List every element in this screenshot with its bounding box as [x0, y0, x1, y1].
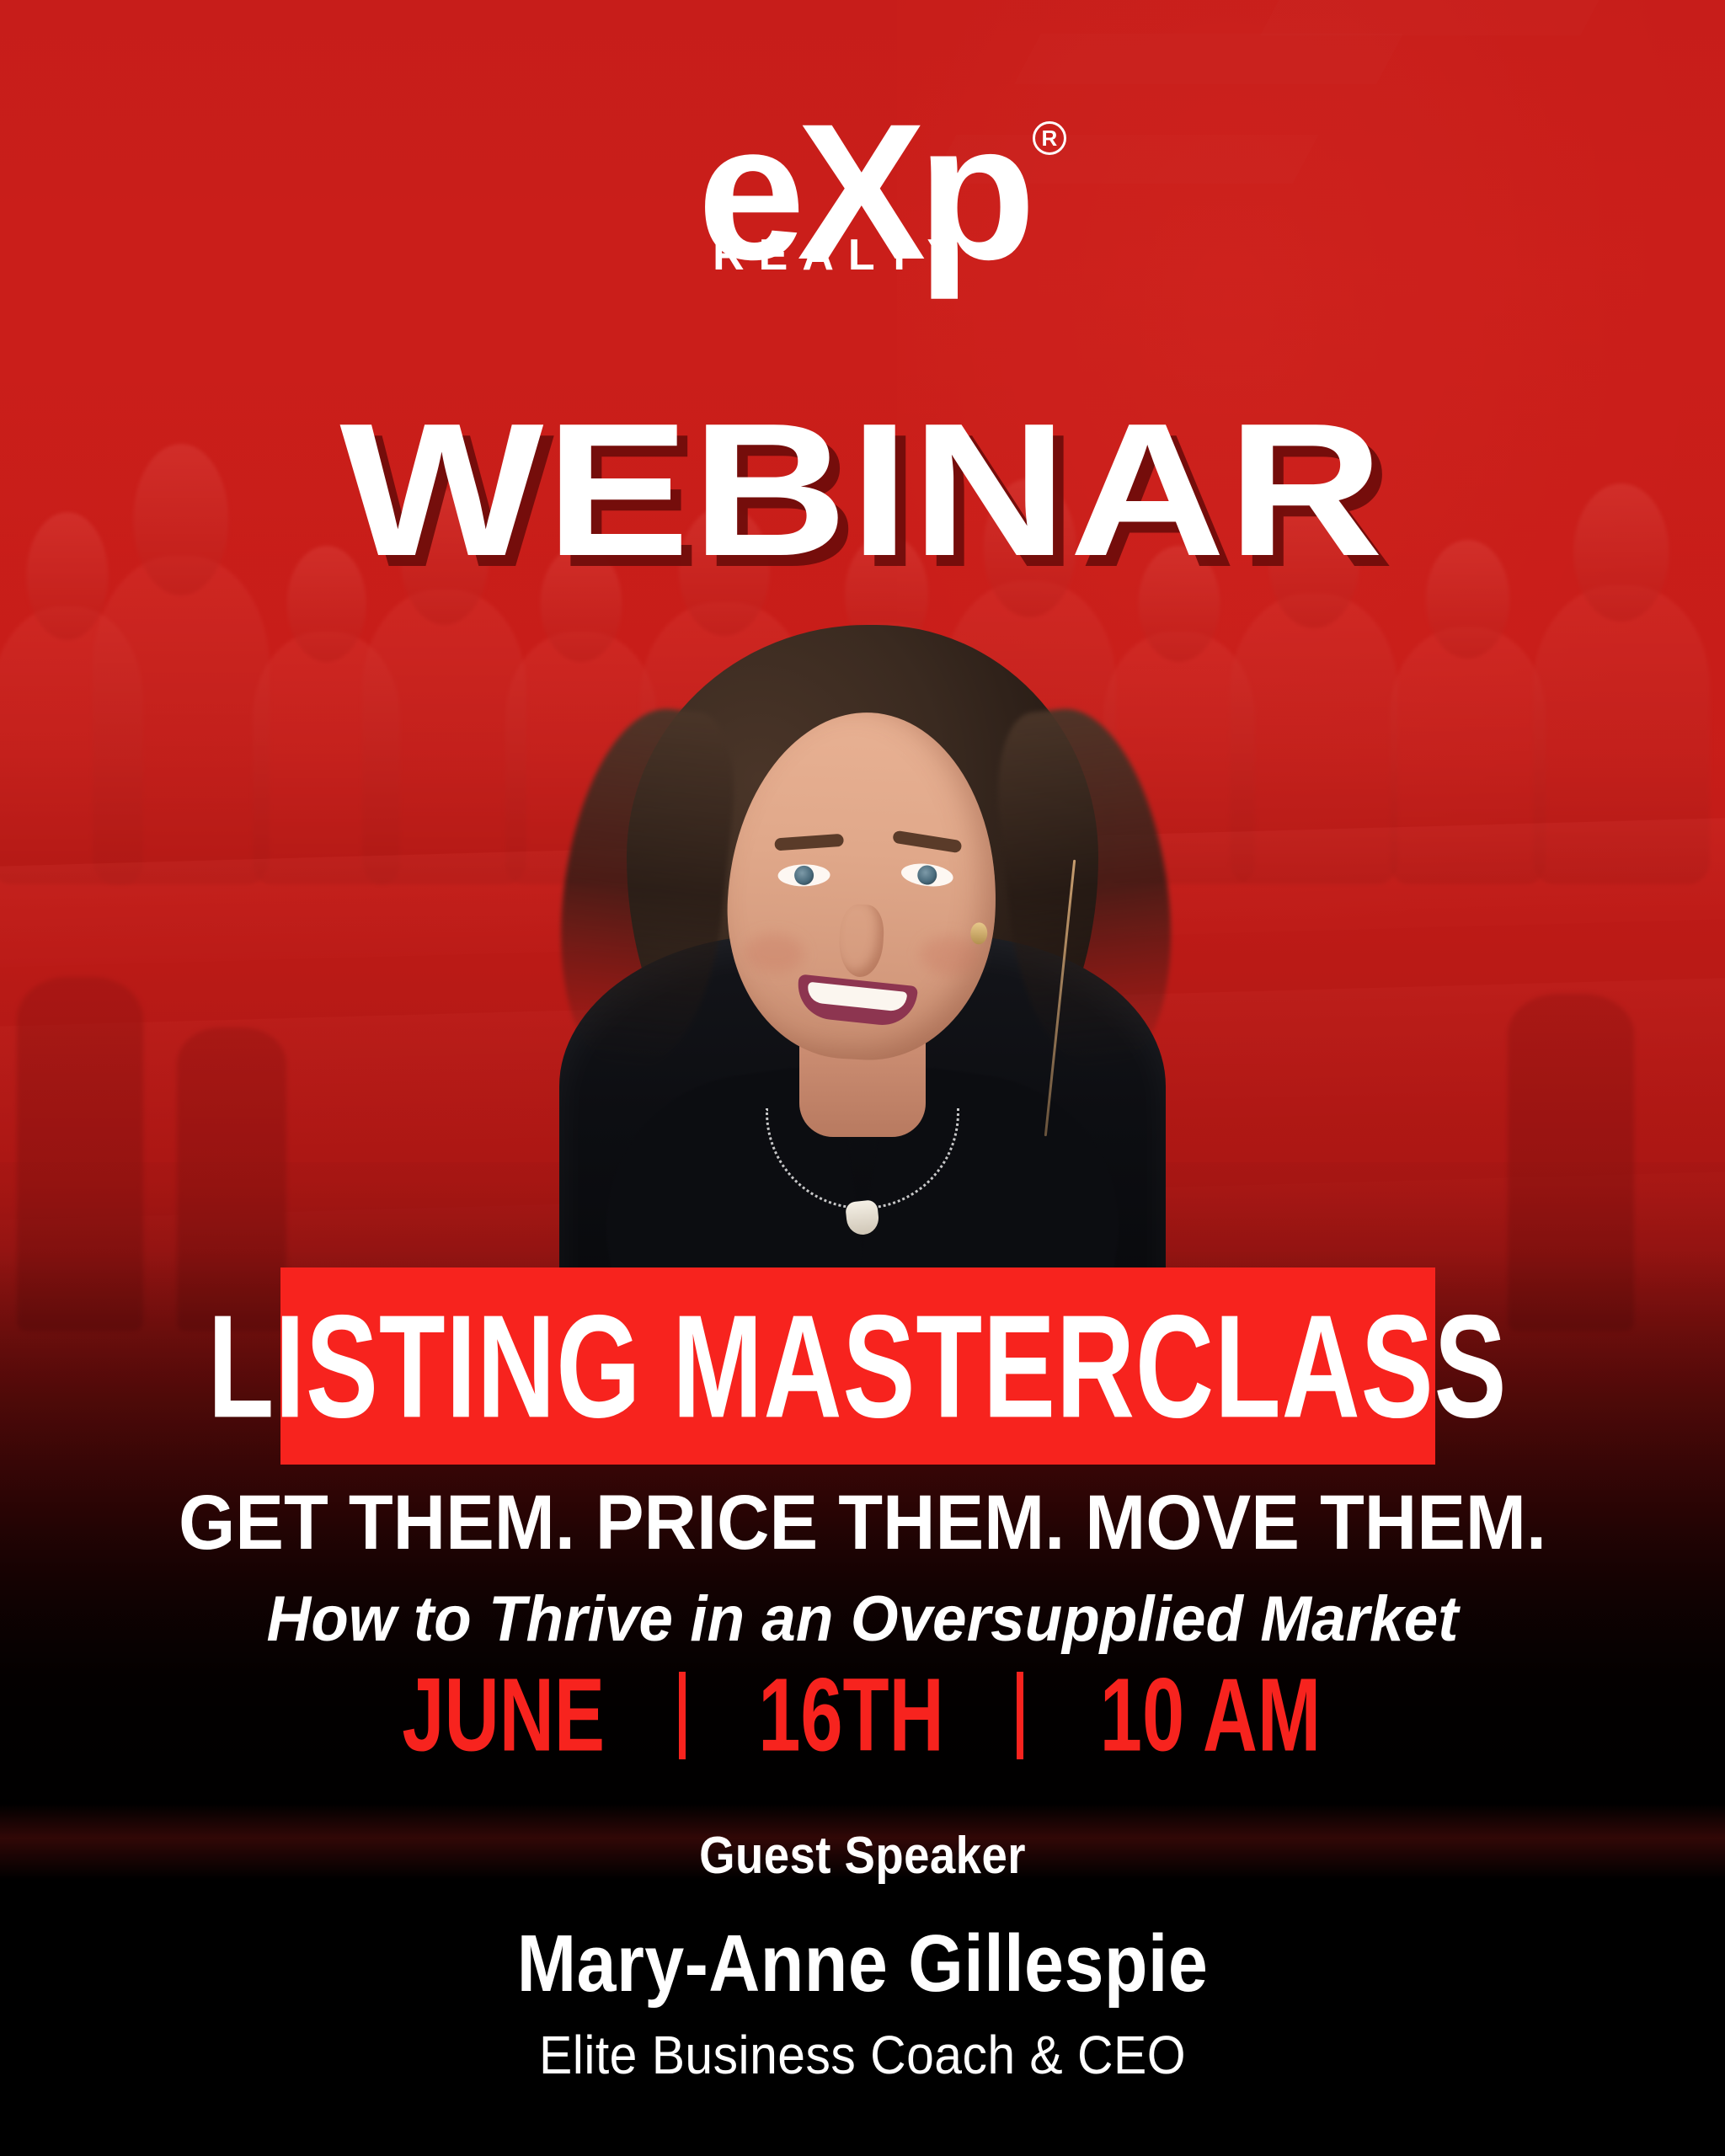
smiling-mouth	[795, 974, 918, 1029]
date-separator-2	[1017, 1672, 1023, 1759]
cheek-left	[745, 932, 805, 974]
event-day: 16TH	[746, 1663, 957, 1767]
registered-trademark-icon: R	[1033, 121, 1066, 155]
eyebrow-right	[892, 830, 962, 854]
speaker-name: Mary-Anne Gillespie	[104, 1918, 1621, 2010]
logo-mark: eXp R REALTY	[697, 116, 1028, 267]
event-datetime: JUNE 16TH 10 AM	[0, 1669, 1725, 1762]
tagline-primary: GET THEM. PRICE THEM. MOVE THEM.	[51, 1479, 1673, 1567]
iris-right	[916, 864, 938, 886]
eye-right	[900, 861, 954, 889]
logo-subtext: REALTY	[713, 238, 970, 273]
event-time: 10 AM	[1087, 1663, 1333, 1767]
masterclass-banner: LISTING MASTERCLASS	[280, 1267, 1435, 1465]
earring-icon	[970, 922, 988, 945]
date-separator-1	[679, 1672, 686, 1759]
speaker-role: Elite Business Coach & CEO	[69, 2024, 1656, 2086]
guest-speaker-label: Guest Speaker	[104, 1826, 1621, 1886]
nose	[837, 904, 884, 979]
eye-left	[777, 864, 830, 887]
tagline-group: GET THEM. PRICE THEM. MOVE THEM. How to …	[0, 1479, 1725, 1656]
webinar-flyer: eXp R REALTY WEBINAR	[0, 0, 1725, 2156]
banner-title: LISTING MASTERCLASS	[208, 1293, 1508, 1439]
tagline-secondary: How to Thrive in an Oversupplied Market	[35, 1582, 1690, 1656]
cheek-right	[920, 935, 980, 977]
speaker-info: Guest Speaker Mary-Anne Gillespie Elite …	[0, 1826, 1725, 2086]
exp-realty-logo: eXp R REALTY	[0, 116, 1725, 267]
iris-left	[794, 866, 814, 885]
speaker-portrait	[483, 606, 1242, 1331]
event-month: JUNE	[389, 1663, 617, 1767]
eyebrow-left	[774, 834, 844, 851]
webinar-headline: WEBINAR	[0, 381, 1725, 599]
teeth	[806, 982, 907, 1012]
